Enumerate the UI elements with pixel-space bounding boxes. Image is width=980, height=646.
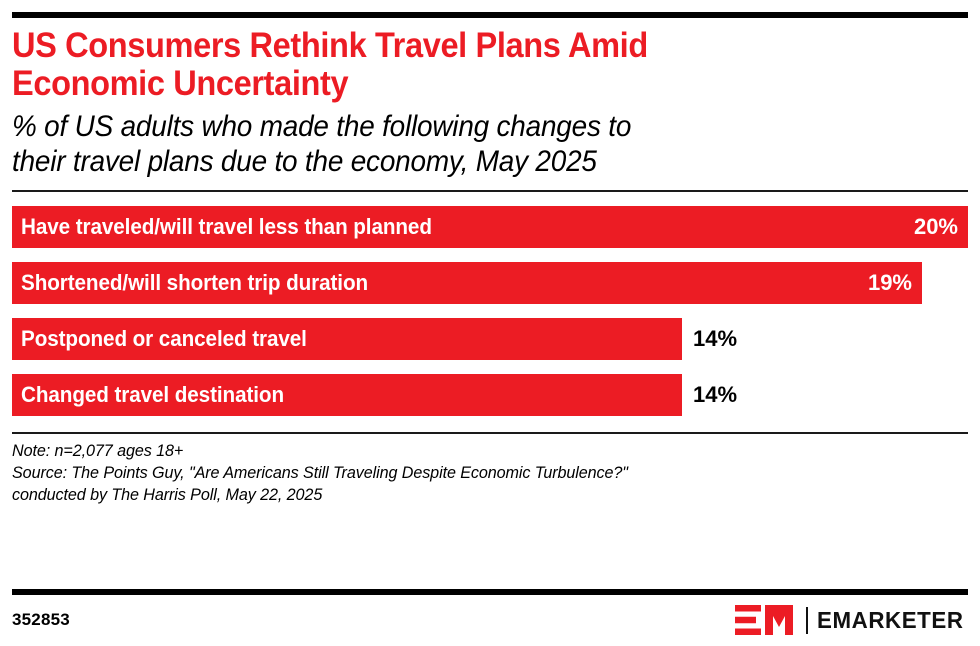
bar-label: Shortened/will shorten trip duration	[21, 272, 368, 294]
chart-header: US Consumers Rethink Travel Plans Amid E…	[12, 18, 968, 179]
emarketer-logo: EMARKETER	[735, 605, 968, 635]
bar-row: Have traveled/will travel less than plan…	[12, 206, 968, 248]
bar-value: 19%	[868, 272, 912, 294]
bar-chart: Have traveled/will travel less than plan…	[12, 192, 968, 416]
chart-title: US Consumers Rethink Travel Plans Amid E…	[12, 27, 901, 103]
bar-have-traveled-less: Have traveled/will travel less than plan…	[12, 206, 968, 248]
chart-id: 352853	[12, 610, 70, 630]
bar-changed-destination: Changed travel destination	[12, 374, 682, 416]
bar-shortened-trip-duration: Shortened/will shorten trip duration 19%	[12, 262, 922, 304]
bottom-rule	[12, 589, 968, 595]
chart-subtitle: % of US adults who made the following ch…	[12, 109, 901, 179]
bar-label: Changed travel destination	[21, 384, 284, 406]
bar-row: Postponed or canceled travel 14%	[12, 318, 968, 360]
em-monogram-icon	[735, 605, 797, 635]
bar-value: 14%	[693, 374, 737, 416]
chart-page: US Consumers Rethink Travel Plans Amid E…	[0, 12, 980, 646]
bar-postponed-or-canceled: Postponed or canceled travel	[12, 318, 682, 360]
bar-value: 14%	[693, 318, 737, 360]
chart-footer: 352853 EMARKETER	[12, 604, 968, 636]
brand-name: EMARKETER	[817, 607, 964, 634]
bar-value: 20%	[914, 216, 958, 238]
bar-label: Have traveled/will travel less than plan…	[21, 216, 432, 238]
bar-row: Shortened/will shorten trip duration 19%	[12, 262, 968, 304]
source-text: Source: The Points Guy, "Are Americans S…	[12, 462, 920, 506]
note-text: Note: n=2,077 ages 18+	[12, 440, 920, 462]
logo-divider	[806, 607, 808, 634]
bar-row: Changed travel destination 14%	[12, 374, 968, 416]
bar-label: Postponed or canceled travel	[21, 328, 307, 350]
footnotes: Note: n=2,077 ages 18+ Source: The Point…	[12, 434, 920, 506]
